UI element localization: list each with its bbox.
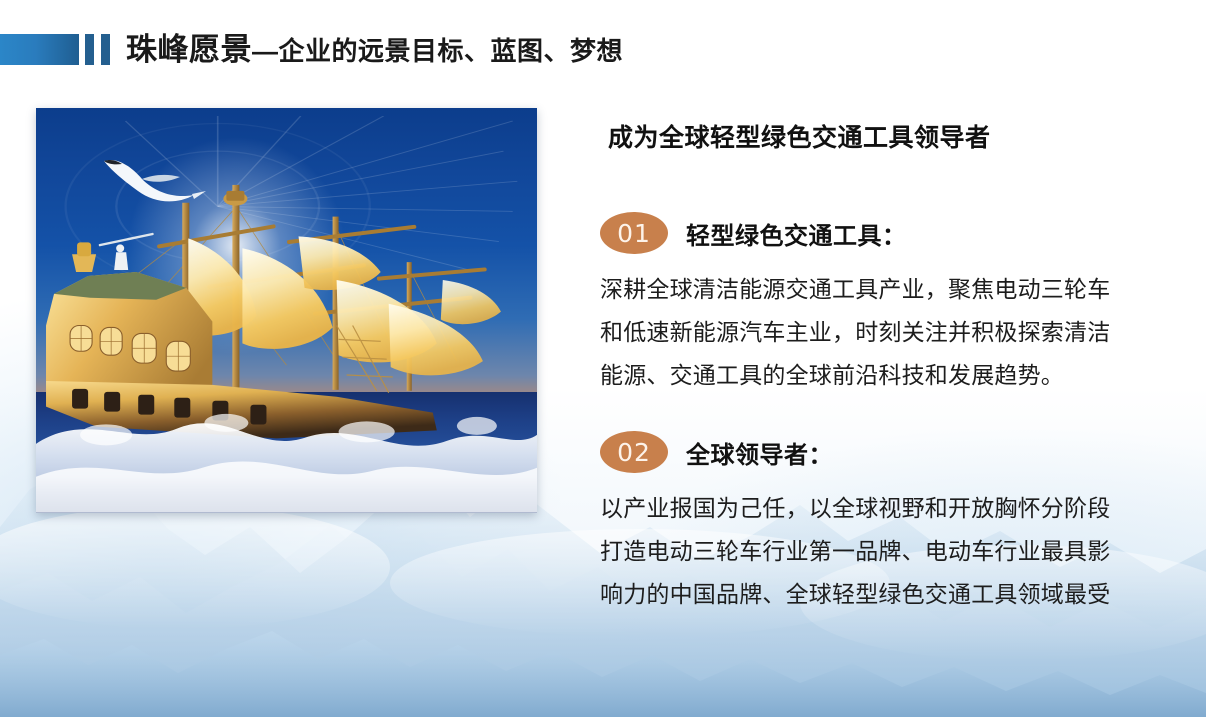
body-line: 深耕全球清洁能源交通工具产业，聚焦电动三轮车 <box>600 268 1178 311</box>
vision-block-01-body: 深耕全球清洁能源交通工具产业，聚焦电动三轮车 和低速新能源汽车主业，时刻关注并积… <box>600 268 1178 397</box>
vision-block-02: 02 全球领导者： 以产业报国为己任，以全球视野和开放胸怀分阶段 打造电动三轮车… <box>600 431 1178 616</box>
header-accent-tick-1 <box>85 34 94 65</box>
body-line: 打造电动三轮车行业第一品牌、电动车行业最具影 <box>600 530 1178 573</box>
vision-block-01: 01 轻型绿色交通工具： 深耕全球清洁能源交通工具产业，聚焦电动三轮车 和低速新… <box>600 212 1178 397</box>
vision-block-01-header: 01 轻型绿色交通工具： <box>600 212 1178 254</box>
body-line: 能源、交通工具的全球前沿科技和发展趋势。 <box>600 354 1178 397</box>
header-accent-tick-2 <box>101 34 110 65</box>
vision-block-02-header: 02 全球领导者： <box>600 431 1178 473</box>
number-badge-02: 02 <box>600 431 668 473</box>
body-line: 以产业报国为己任，以全球视野和开放胸怀分阶段 <box>600 487 1178 530</box>
vision-block-01-title: 轻型绿色交通工具： <box>686 216 907 251</box>
header-accent-bar <box>0 34 79 65</box>
number-badge-01: 01 <box>600 212 668 254</box>
vision-statement: 成为全球轻型绿色交通工具领导者 <box>608 118 1178 154</box>
content-column: 成为全球轻型绿色交通工具领导者 01 轻型绿色交通工具： 深耕全球清洁能源交通工… <box>600 118 1178 650</box>
vision-block-02-title: 全球领导者： <box>686 435 833 470</box>
body-line: 响力的中国品牌、全球轻型绿色交通工具领域最受 <box>600 573 1178 616</box>
page-title-sub: —企业的远景目标、蓝图、梦想 <box>252 36 623 66</box>
vision-block-02-body: 以产业报国为己任，以全球视野和开放胸怀分阶段 打造电动三轮车行业第一品牌、电动车… <box>600 487 1178 616</box>
sea-foam <box>36 375 537 513</box>
body-line: 和低速新能源汽车主业，时刻关注并积极探索清洁 <box>600 311 1178 354</box>
page-title-main: 珠峰愿景 <box>126 32 252 67</box>
slide-header: 珠峰愿景—企业的远景目标、蓝图、梦想 <box>0 0 1206 105</box>
page-title: 珠峰愿景—企业的远景目标、蓝图、梦想 <box>126 33 623 73</box>
sailing-ship-image <box>36 108 537 513</box>
